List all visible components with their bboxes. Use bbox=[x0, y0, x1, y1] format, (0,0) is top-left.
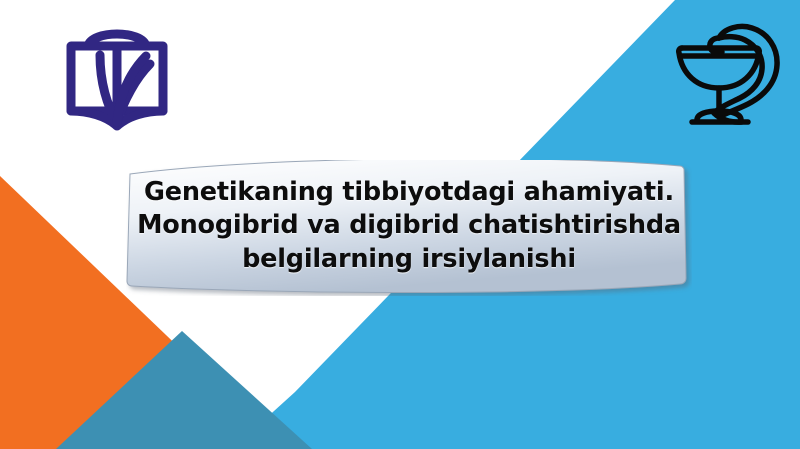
bowl-of-hygieia-icon bbox=[664, 12, 784, 134]
open-book-icon bbox=[62, 22, 172, 134]
presentation-slide: Genetikaning tibbiyotdagi ahamiyati. Mon… bbox=[0, 0, 800, 449]
open-book-icon-glyph bbox=[62, 22, 172, 134]
page-title: Genetikaning tibbiyotdagi ahamiyati. Mon… bbox=[126, 146, 692, 306]
title-banner: Genetikaning tibbiyotdagi ahamiyati. Mon… bbox=[126, 160, 692, 296]
bowl-of-hygieia-icon-glyph bbox=[664, 12, 784, 134]
